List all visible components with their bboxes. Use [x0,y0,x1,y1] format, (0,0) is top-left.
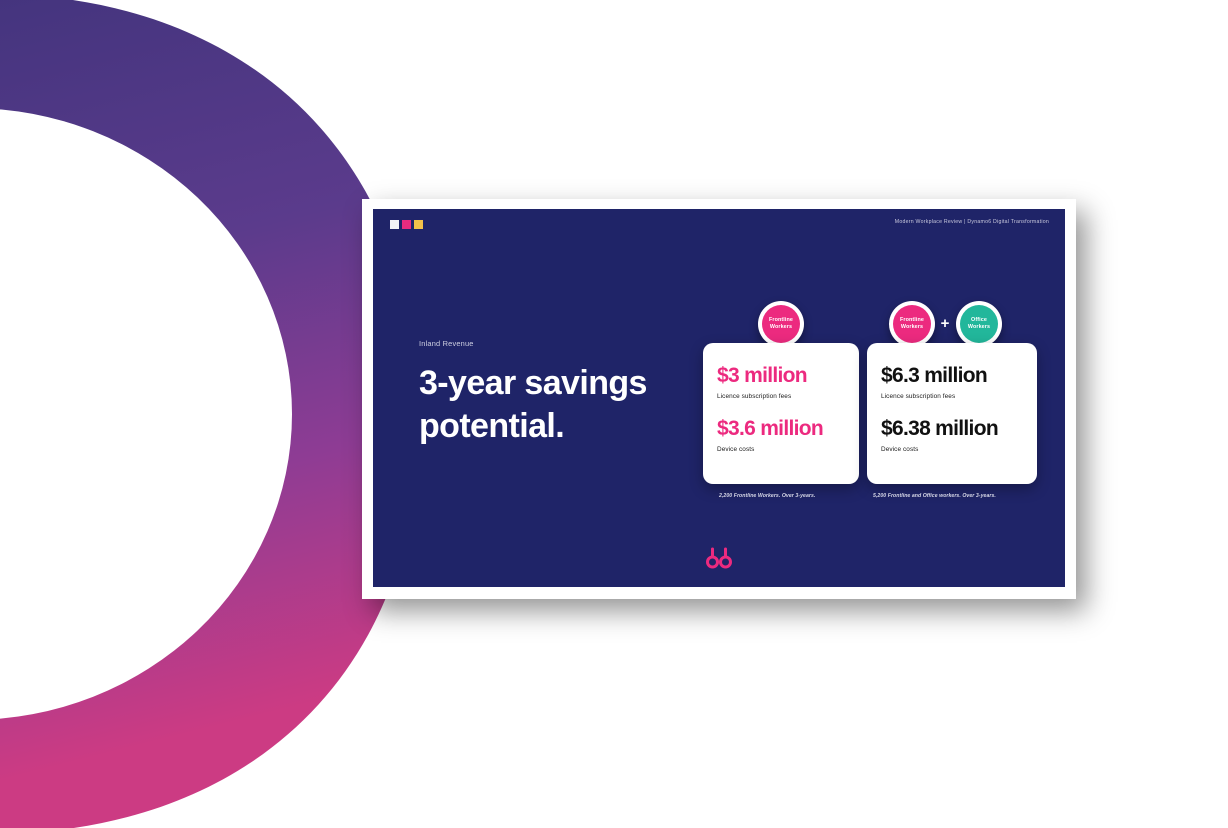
badge-line-1: Office [971,317,987,324]
stat-value: $3 million [717,365,845,386]
headline-block: Inland Revenue 3-year savings potential. [419,339,709,448]
card-frontline-plus-office: $6.3 million Licence subscription fees $… [867,343,1037,484]
badge-line-2: Workers [968,324,990,331]
badge-line-1: Frontline [900,317,924,324]
spacer [717,400,845,418]
slide-canvas: Modern Workplace Review | Dynamo6 Digita… [373,209,1065,587]
badge-line-2: Workers [770,324,792,331]
badge-disc: Frontline Workers [762,305,800,343]
eyebrow-text: Inland Revenue [419,339,709,348]
badge-disc: Office Workers [960,305,998,343]
square-yellow-icon [414,220,423,229]
badge-frontline-workers-1: Frontline Workers [758,301,804,347]
square-white-icon [390,220,399,229]
d-monogram-shape [0,0,420,828]
spacer [881,400,1023,418]
badge-line-1: Frontline [769,317,793,324]
page-title: 3-year savings potential. [419,362,709,448]
stat-value: $6.38 million [881,418,1023,439]
badge-disc: Frontline Workers [893,305,931,343]
stat-label: Device costs [717,446,845,453]
stat-cards-area: Frontline Workers Frontline Workers + Of… [703,301,1043,521]
square-pink-icon [402,220,411,229]
badge-frontline-workers-2: Frontline Workers [889,301,935,347]
slide-topbar: Modern Workplace Review | Dynamo6 Digita… [373,209,1065,237]
badge-office-workers: Office Workers [956,301,1002,347]
brand-squares-logo [390,220,423,229]
card-footnote: 5,200 Frontline and Office workers. Over… [873,493,996,499]
slide-frame: Modern Workplace Review | Dynamo6 Digita… [362,199,1076,599]
badge-line-2: Workers [901,324,923,331]
stat-label: Licence subscription fees [881,393,1023,400]
stat-label: Licence subscription fees [717,393,845,400]
stat-value: $3.6 million [717,418,845,439]
stat-value: $6.3 million [881,365,1023,386]
d-monogram-counter [0,108,292,720]
card-footnote: 2,200 Frontline Workers. Over 3-years. [719,493,815,499]
dynamo6-logo [706,547,732,569]
stat-label: Device costs [881,446,1023,453]
slide-kicker-text: Modern Workplace Review | Dynamo6 Digita… [895,219,1049,225]
plus-icon: + [935,316,955,331]
card-frontline: $3 million Licence subscription fees $3.… [703,343,859,484]
footer-logo-wrap [373,547,1065,569]
